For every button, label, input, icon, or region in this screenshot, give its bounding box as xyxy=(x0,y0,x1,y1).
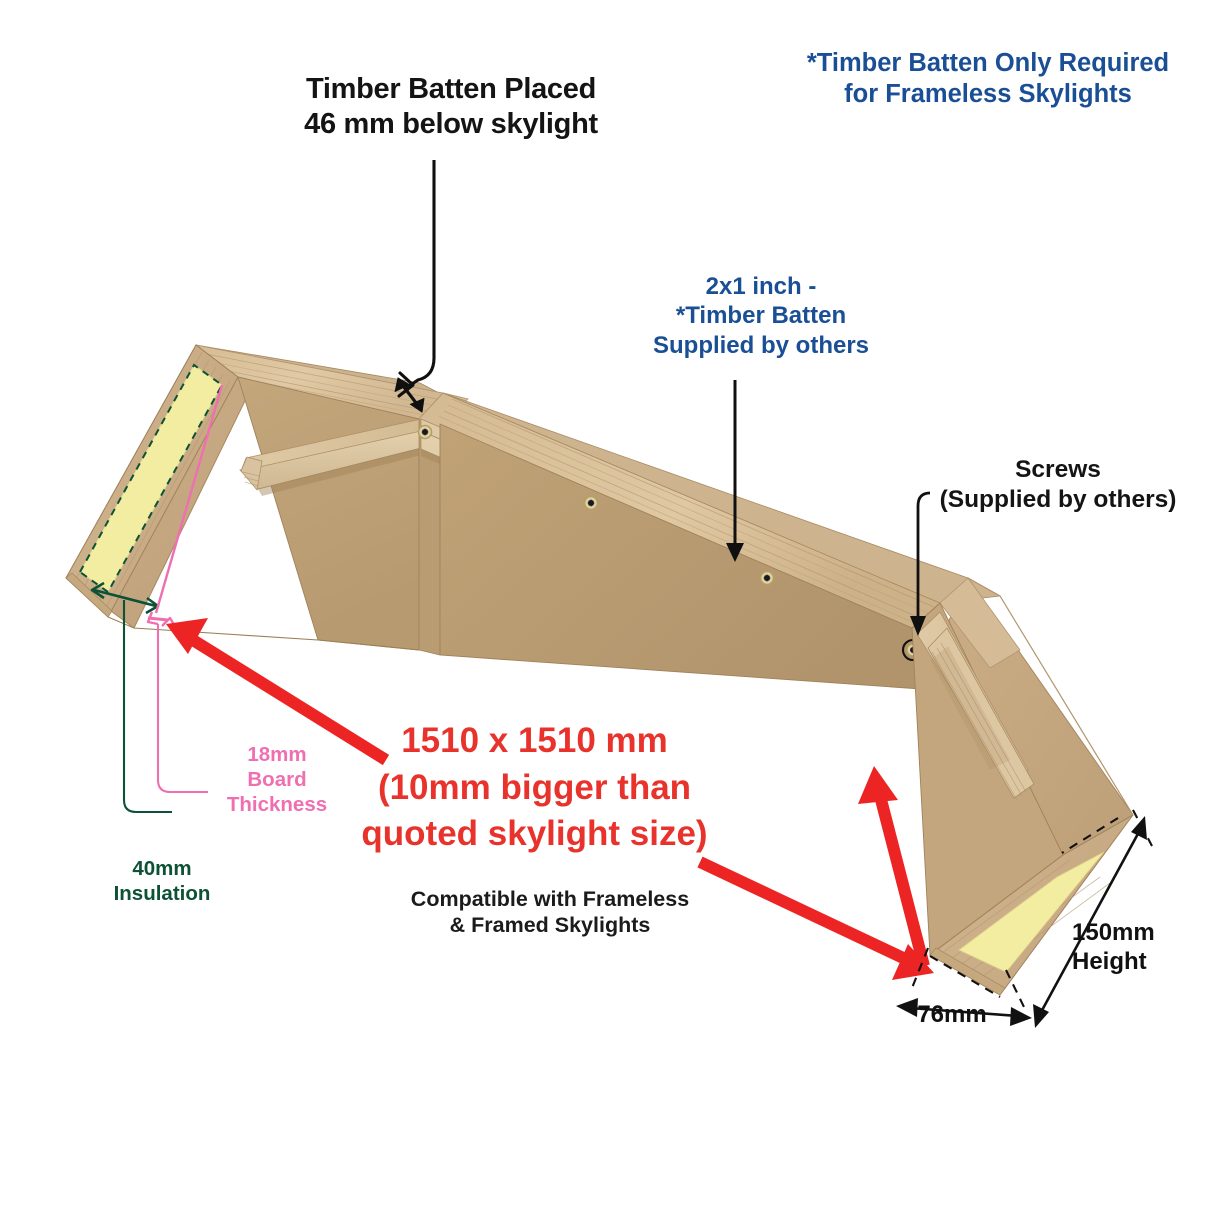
opening-size-label: 1510 x 1510 mm (10mm bigger than quoted … xyxy=(322,718,747,858)
kerb-left-wing xyxy=(66,345,460,650)
board-thickness-label: 18mm Board Thickness xyxy=(212,742,342,817)
insulation-label: 40mm Insulation xyxy=(92,856,232,906)
timber-batten-placed-label: Timber Batten Placed 46 mm below skyligh… xyxy=(246,72,656,143)
screw-icon xyxy=(419,426,432,439)
screws-label: Screws (Supplied by others) xyxy=(908,455,1208,515)
kerb-width-label: 76mm xyxy=(902,1000,1002,1029)
skylight-kerb-illustration xyxy=(0,0,1214,1214)
screw-icon xyxy=(585,497,598,510)
diagram-canvas: Timber Batten Placed 46 mm below skyligh… xyxy=(0,0,1214,1214)
batten-placed-leader xyxy=(395,160,434,412)
batten-supply-label: 2x1 inch - *Timber Batten Supplied by ot… xyxy=(606,272,916,360)
left-wing-inner-face xyxy=(238,377,419,650)
compatibility-label: Compatible with Frameless & Framed Skyli… xyxy=(375,886,725,938)
kerb-height-label: 150mm Height xyxy=(1072,918,1202,977)
screw-icon xyxy=(761,572,774,585)
frameless-requirement-note: *Timber Batten Only Required for Framele… xyxy=(768,48,1208,110)
